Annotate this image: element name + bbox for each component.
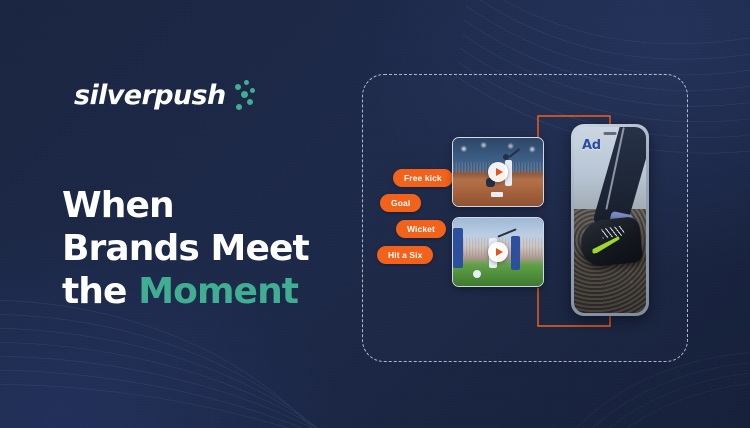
diagonal-dots-icon: [235, 80, 261, 114]
page-title: When Brands Meet the Moment: [62, 184, 334, 314]
slide-canvas: silverpush When Brands Meet the Moment: [0, 0, 750, 428]
brand-logo-wordmark: silverpush: [74, 82, 226, 109]
player-left: [453, 228, 463, 268]
stadium-lights: [453, 141, 543, 164]
soccer-ball: [473, 270, 481, 278]
video-thumbnail-baseball[interactable]: [452, 137, 544, 207]
moment-tag-wicket[interactable]: Wicket: [396, 220, 446, 238]
brand-logo[interactable]: silverpush: [74, 76, 261, 114]
moment-tag-goal[interactable]: Goal: [380, 194, 421, 212]
phone-screen: Ad: [574, 127, 646, 313]
phone-speaker-notch: [604, 132, 617, 135]
play-button-icon[interactable]: [488, 242, 508, 262]
ad-badge: Ad: [582, 138, 601, 153]
headline-line-2: Brands Meet: [62, 228, 309, 269]
video-thumbnail-soccer[interactable]: [452, 217, 544, 287]
play-button-icon[interactable]: [488, 162, 508, 182]
phone-mockup[interactable]: Ad: [571, 124, 649, 316]
headline-line-1: When: [62, 185, 174, 226]
moment-tag-hit-a-six[interactable]: Hit a Six: [377, 246, 433, 264]
left-content-column: silverpush When Brands Meet the Moment: [0, 0, 345, 428]
player-blue: [511, 236, 520, 270]
headline-accent-word: Moment: [138, 271, 298, 312]
illustration-stage: Free kick Goal Wicket Hit a Six: [362, 74, 688, 362]
moment-tag-free-kick[interactable]: Free kick: [393, 169, 453, 187]
player-helmet: [503, 154, 509, 160]
headline-line-3-prefix: the: [62, 271, 138, 312]
base-plate: [491, 192, 503, 197]
